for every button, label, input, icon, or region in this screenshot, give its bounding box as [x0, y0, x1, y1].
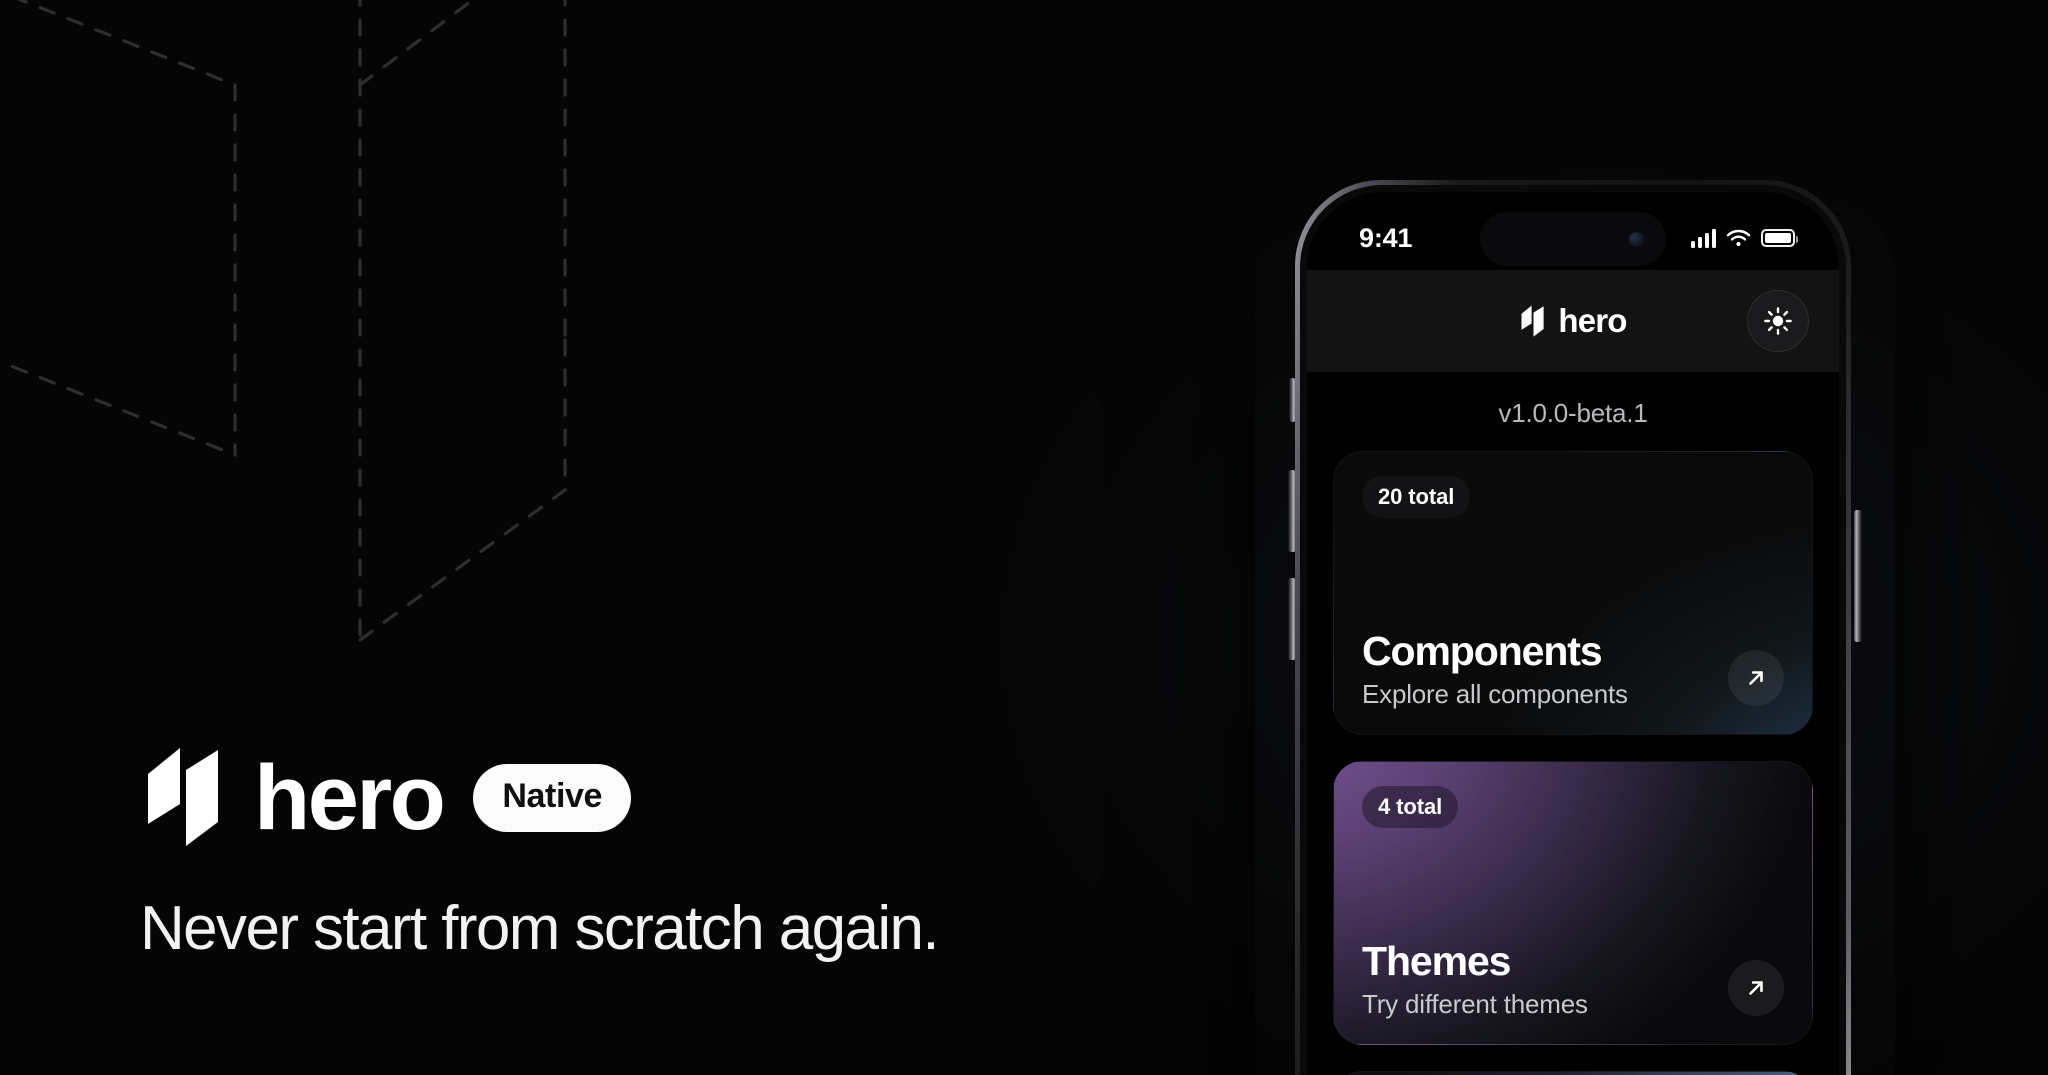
status-badge: 4 total — [1362, 786, 1458, 828]
native-badge: Native — [473, 764, 631, 832]
status-bar-indicators — [1691, 228, 1795, 248]
hero-wordmark: hero — [254, 752, 443, 844]
version-label: v1.0.0-beta.1 — [1333, 372, 1813, 451]
card-subtitle: Try different themes — [1362, 989, 1784, 1020]
card-footer: Components Explore all components — [1362, 629, 1784, 710]
front-camera-icon — [1629, 232, 1644, 247]
arrow-up-right-icon[interactable] — [1728, 650, 1784, 706]
battery-full-icon — [1761, 229, 1795, 247]
hero-landing-stage: hero Native Never start from scratch aga… — [0, 0, 2048, 1075]
status-bar-time: 9:41 — [1359, 223, 1412, 254]
card-title: Themes — [1362, 939, 1784, 985]
card-title: Components — [1362, 629, 1784, 675]
app-nav-bar: hero — [1307, 270, 1839, 372]
hero-logo-mark-icon — [1519, 305, 1546, 338]
status-badge: 20 total — [1362, 476, 1470, 518]
dashed-isometric-hero-mark-icon — [0, 0, 605, 690]
power-button[interactable] — [1854, 510, 1862, 642]
status-bar: 9:41 — [1307, 192, 1839, 270]
hero-copy-block: hero Native Never start from scratch aga… — [140, 742, 1190, 963]
phone-bezel: 9:41 — [1300, 185, 1846, 1075]
card-footer: Themes Try different themes — [1362, 939, 1784, 1020]
card-subtitle: Explore all components — [1362, 679, 1784, 710]
hero-tagline: Never start from scratch again. — [140, 896, 1190, 963]
card-themes[interactable]: 4 total Themes Try different themes — [1333, 761, 1813, 1045]
card-next-partial[interactable] — [1333, 1071, 1813, 1075]
phone-frame: 9:41 — [1295, 180, 1851, 1075]
phone-screen: 9:41 — [1307, 192, 1839, 1075]
app-title: hero — [1558, 302, 1626, 340]
iphone-mockup: 9:41 — [1295, 180, 1855, 1075]
wifi-icon — [1726, 228, 1751, 248]
dynamic-island — [1480, 212, 1666, 266]
app-brand: hero — [1519, 302, 1626, 340]
arrow-up-right-icon[interactable] — [1728, 960, 1784, 1016]
theme-toggle-button[interactable] — [1747, 290, 1809, 352]
card-components[interactable]: 20 total Components Explore all componen… — [1333, 451, 1813, 735]
app-content: v1.0.0-beta.1 20 total Components Explor… — [1307, 372, 1839, 1075]
sun-icon — [1763, 306, 1793, 336]
cellular-signal-icon — [1691, 228, 1716, 248]
hero-logo-mark-icon — [140, 746, 226, 850]
hero-logo-row: hero Native — [140, 742, 1190, 854]
